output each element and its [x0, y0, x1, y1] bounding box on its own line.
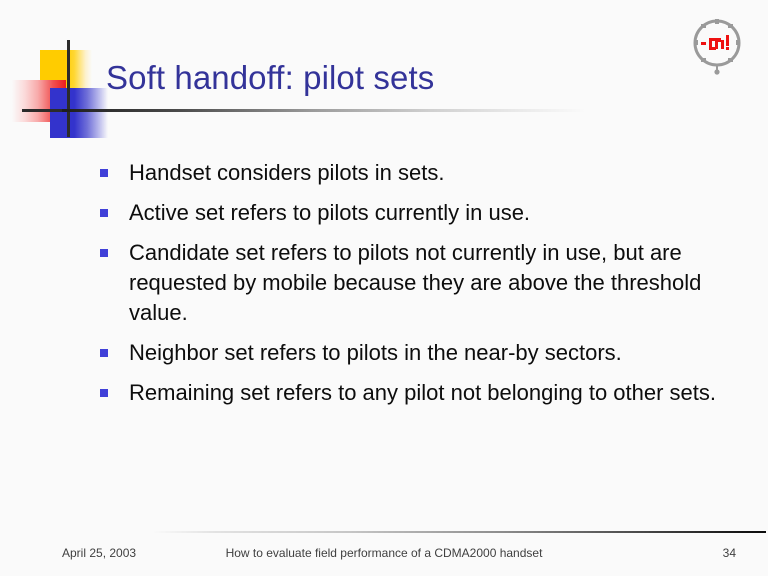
square-bullet-icon [100, 169, 108, 177]
slide: Soft handoff: pilot sets Handset conside… [0, 0, 768, 576]
list-item: Candidate set refers to pilots not curre… [100, 238, 740, 328]
slide-footer: April 25, 2003 How to evaluate field per… [0, 546, 768, 568]
page-number: 34 [723, 546, 736, 560]
list-item: Neighbor set refers to pilots in the nea… [100, 338, 740, 368]
square-bullet-icon [100, 389, 108, 397]
list-item: Active set refers to pilots currently in… [100, 198, 740, 228]
list-item-text: Neighbor set refers to pilots in the nea… [129, 338, 740, 368]
footer-divider [152, 531, 766, 533]
list-item-text: Handset considers pilots in sets. [129, 158, 740, 188]
vertical-line-icon [67, 40, 70, 137]
slide-title: Soft handoff: pilot sets [106, 58, 434, 98]
footer-title: How to evaluate field performance of a C… [0, 546, 768, 560]
blue-square-icon [50, 88, 108, 138]
square-bullet-icon [100, 349, 108, 357]
square-bullet-icon [100, 249, 108, 257]
list-item-text: Active set refers to pilots currently in… [129, 198, 740, 228]
list-item-text: Remaining set refers to any pilot not be… [129, 378, 740, 408]
list-item: Handset considers pilots in sets. [100, 158, 740, 188]
square-bullet-icon [100, 209, 108, 217]
list-item-text: Candidate set refers to pilots not curre… [129, 238, 740, 328]
list-item: Remaining set refers to any pilot not be… [100, 378, 740, 408]
cnl-logo-icon [688, 16, 746, 76]
title-underline [62, 109, 586, 112]
bullet-list: Handset considers pilots in sets. Active… [100, 158, 740, 418]
